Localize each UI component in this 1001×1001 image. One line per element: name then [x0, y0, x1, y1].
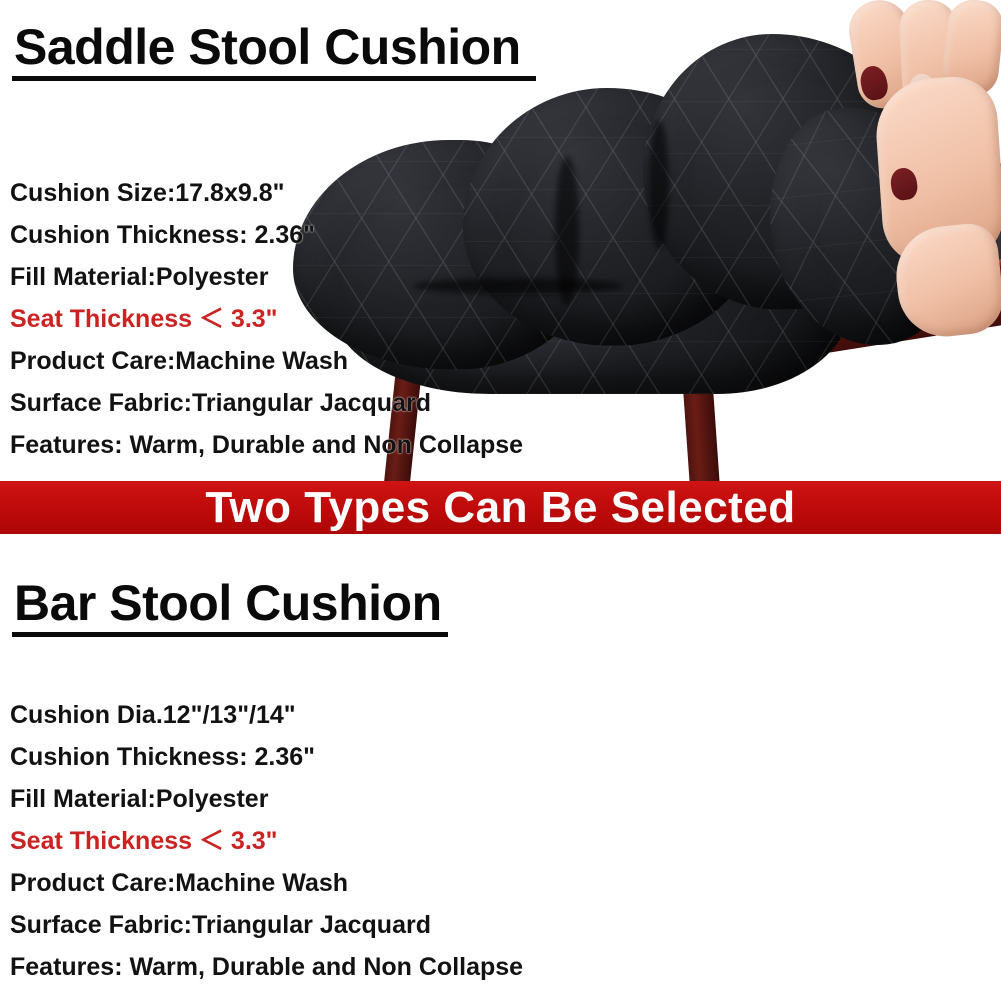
spec-line: Features: Warm, Durable and Non Collapse: [10, 946, 523, 988]
finger: [940, 0, 1001, 99]
saddle-stool-leg-right: [680, 352, 719, 481]
spec-line: Cushion Dia.12"/13"/14": [10, 694, 523, 736]
spec-line: Product Care:Machine Wash: [10, 340, 523, 382]
thumb: [892, 221, 1001, 341]
saddle-title-underline: [12, 76, 536, 81]
saddle-stool-seat-top: [585, 163, 1001, 348]
banner-label: Two Types Can Be Selected: [0, 481, 1001, 534]
bar-spec-list: Cushion Dia.12"/13"/14"Cushion Thickness…: [10, 694, 523, 988]
two-types-banner: Two Types Can Be Selected: [0, 481, 1001, 534]
fingernail: [909, 74, 935, 106]
apron-highlight: [585, 259, 1001, 333]
saddle-section: Saddle Stool Cushion Cushion Size:17.8x9…: [0, 0, 1001, 481]
finger: [845, 0, 921, 112]
spec-line: Cushion Thickness: 2.36": [10, 214, 523, 256]
spec-line: Features: Warm, Durable and Non Collapse: [10, 424, 523, 466]
saddle-spec-list: Cushion Size:17.8x9.8"Cushion Thickness:…: [10, 172, 523, 466]
spec-line: Seat Thickness ＜ 3.3": [10, 298, 523, 340]
saddle-section-title: Saddle Stool Cushion: [14, 22, 521, 72]
hand-palm: [873, 74, 1001, 268]
finger: [898, 0, 962, 121]
cushion-crease: [649, 120, 669, 250]
spec-line: Seat Thickness ＜ 3.3": [10, 820, 523, 862]
product-infographic: Saddle Stool Cushion Cushion Size:17.8x9…: [0, 0, 1001, 1001]
stool-screw-detail: [972, 288, 983, 301]
spec-line: Fill Material:Polyester: [10, 256, 523, 298]
fingernail: [858, 64, 891, 103]
spec-line: Product Care:Machine Wash: [10, 862, 523, 904]
bar-section: Bar Stool Cushion Cushion Dia.12"/13"/14…: [0, 534, 1001, 1001]
cushion-lobe-right: [643, 34, 923, 310]
cushion-crease: [555, 156, 579, 306]
spec-line: Cushion Size:17.8x9.8": [10, 172, 523, 214]
spec-line: Cushion Thickness: 2.36": [10, 736, 523, 778]
cushion-cover-flap: [759, 97, 973, 356]
fingernail: [889, 166, 919, 201]
spec-line: Fill Material:Polyester: [10, 778, 523, 820]
saddle-stool-apron: [585, 259, 1001, 392]
quilt-pattern: [759, 97, 973, 356]
wood-grain-texture: [585, 163, 1001, 348]
quilt-pattern: [643, 34, 923, 310]
spec-line: Surface Fabric:Triangular Jacquard: [10, 382, 523, 424]
bar-title-underline: [12, 632, 448, 637]
spec-line: Surface Fabric:Triangular Jacquard: [10, 904, 523, 946]
bar-section-title: Bar Stool Cushion: [14, 578, 442, 628]
